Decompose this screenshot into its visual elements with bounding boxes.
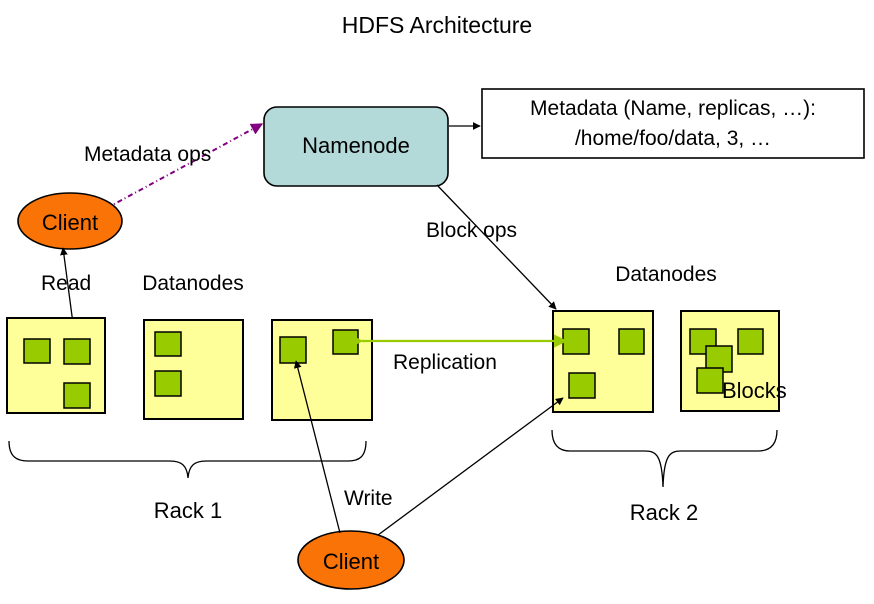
datanode-group-4[interactable]	[553, 311, 653, 412]
metadata-ops-label: Metadata ops	[84, 143, 211, 166]
block	[619, 329, 644, 354]
datanode-group-3[interactable]	[272, 320, 372, 420]
block	[563, 329, 589, 354]
block	[64, 339, 90, 364]
datanode-4-box[interactable]	[553, 311, 653, 412]
block	[155, 371, 181, 396]
block-ops-label: Block ops	[426, 219, 517, 242]
block	[280, 337, 306, 363]
write-label: Write	[344, 487, 393, 510]
client-top-label: Client	[42, 210, 98, 235]
block	[24, 339, 50, 363]
block	[333, 330, 358, 354]
datanode-group-2[interactable]	[144, 320, 243, 419]
rack-1-label: Rack 1	[154, 498, 222, 523]
replication-label: Replication	[393, 351, 497, 374]
datanodes-right-label: Datanodes	[615, 263, 717, 286]
metadata-line-2: /home/foo/data, 3, …	[575, 127, 771, 150]
hdfs-architecture-diagram: HDFS Architecture Namenode Metadata (Nam…	[0, 0, 874, 604]
datanode-group-1[interactable]	[7, 318, 105, 413]
datanodes-left-label: Datanodes	[142, 272, 244, 295]
read-label: Read	[41, 272, 91, 295]
block	[155, 332, 181, 356]
client-bottom-label: Client	[323, 549, 379, 574]
block	[697, 368, 723, 393]
block	[738, 329, 763, 354]
block	[569, 373, 595, 398]
block	[64, 383, 90, 408]
blocks-label: Blocks	[722, 378, 787, 403]
rack-2-label: Rack 2	[630, 500, 698, 525]
namenode-label: Namenode	[302, 133, 410, 158]
metadata-line-1: Metadata (Name, replicas, …):	[530, 97, 816, 120]
page-title: HDFS Architecture	[342, 12, 532, 38]
